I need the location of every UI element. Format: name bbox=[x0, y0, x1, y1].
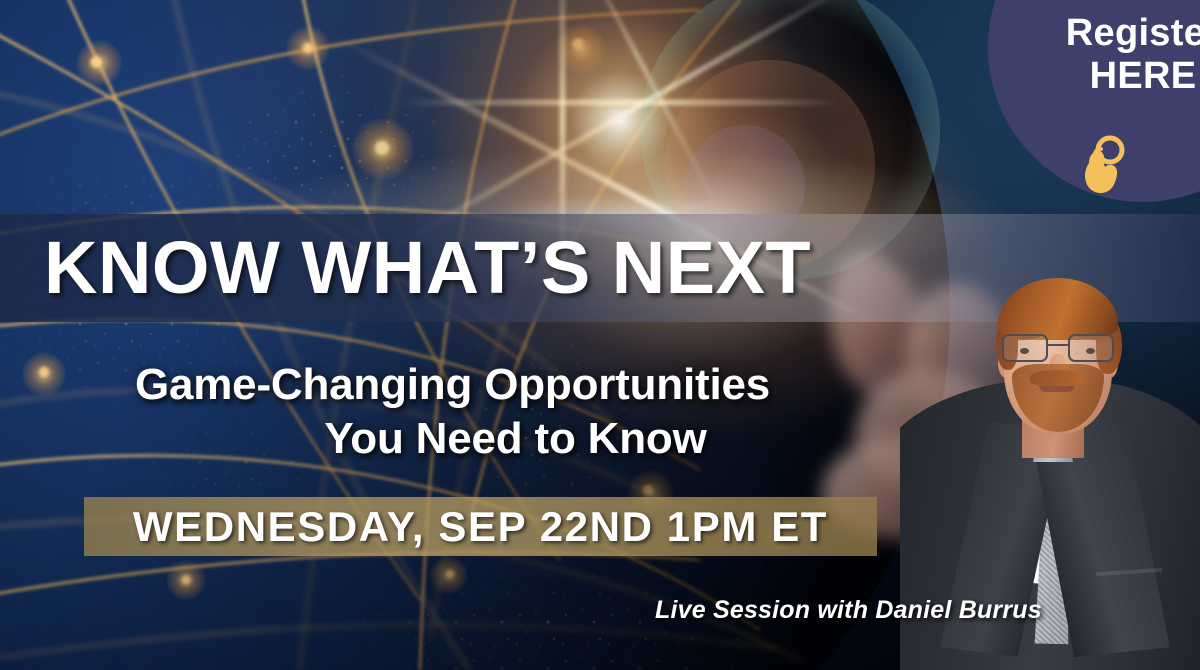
webinar-promo-banner: KNOW WHAT’S NEXT Game-Changing Opportuni… bbox=[0, 0, 1200, 670]
subtitle-line-1: Game-Changing Opportunities bbox=[135, 360, 770, 409]
tap-hand-icon[interactable] bbox=[1075, 133, 1131, 195]
moustache bbox=[1030, 370, 1084, 386]
event-date-time: WEDNESDAY, SEP 22ND 1PM ET bbox=[133, 503, 828, 551]
mouth bbox=[1039, 385, 1075, 392]
subtitle-line-2: You Need to Know bbox=[0, 412, 905, 466]
subtitle: Game-Changing Opportunities You Need to … bbox=[0, 358, 905, 465]
glasses-lens-left bbox=[1002, 334, 1048, 362]
date-band: WEDNESDAY, SEP 22ND 1PM ET bbox=[84, 497, 877, 556]
speaker-attribution: Live Session with Daniel Burrus bbox=[655, 596, 1042, 625]
glasses-lens-right bbox=[1068, 334, 1114, 362]
page-title: KNOW WHAT’S NEXT bbox=[44, 231, 811, 305]
eyeglasses-icon bbox=[998, 332, 1118, 366]
register-label-line-2: HERE bbox=[1090, 55, 1197, 98]
register-label-line-1: Register bbox=[1066, 12, 1200, 55]
hair bbox=[998, 278, 1118, 340]
glasses-bridge bbox=[1048, 344, 1068, 346]
